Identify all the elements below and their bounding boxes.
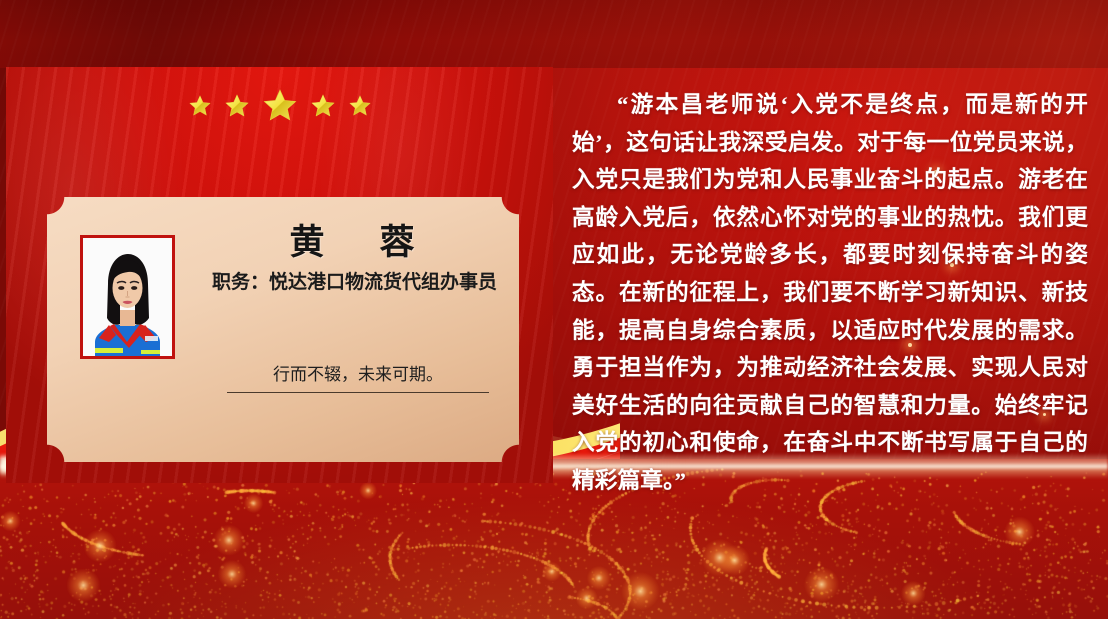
member-name: 黄 蓉 [212, 223, 502, 263]
star-icon [225, 94, 249, 117]
star-icon [189, 95, 211, 116]
star-icon [263, 89, 297, 121]
left-red-panel: 黄 蓉 职务：悦达港口物流货代组办事员 行而不辍，未来可期。 [6, 67, 553, 483]
motto-divider [227, 392, 489, 393]
star-icon [349, 95, 371, 116]
member-motto-block: 行而不辍，未来可期。 [227, 360, 489, 393]
testimonial-quote: “游本昌老师说‘入党不是终点，而是新的开始’，这句话让我深受启发。对于每一位党员… [572, 86, 1088, 500]
member-info: 黄 蓉 职务：悦达港口物流货代组办事员 [212, 223, 502, 296]
member-title: 职务：悦达港口物流货代组办事员 [212, 271, 502, 295]
star-rating-row [6, 85, 553, 125]
member-profile-card: 黄 蓉 职务：悦达港口物流货代组办事员 行而不辍，未来可期。 [47, 197, 519, 462]
member-portrait-photo [83, 238, 172, 356]
slide-canvas: 黄 蓉 职务：悦达港口物流货代组办事员 行而不辍，未来可期。 “游本昌老师说‘入… [0, 0, 1108, 619]
member-photo-frame [80, 235, 175, 359]
member-motto: 行而不辍，未来可期。 [227, 360, 489, 392]
star-icon [311, 94, 335, 117]
